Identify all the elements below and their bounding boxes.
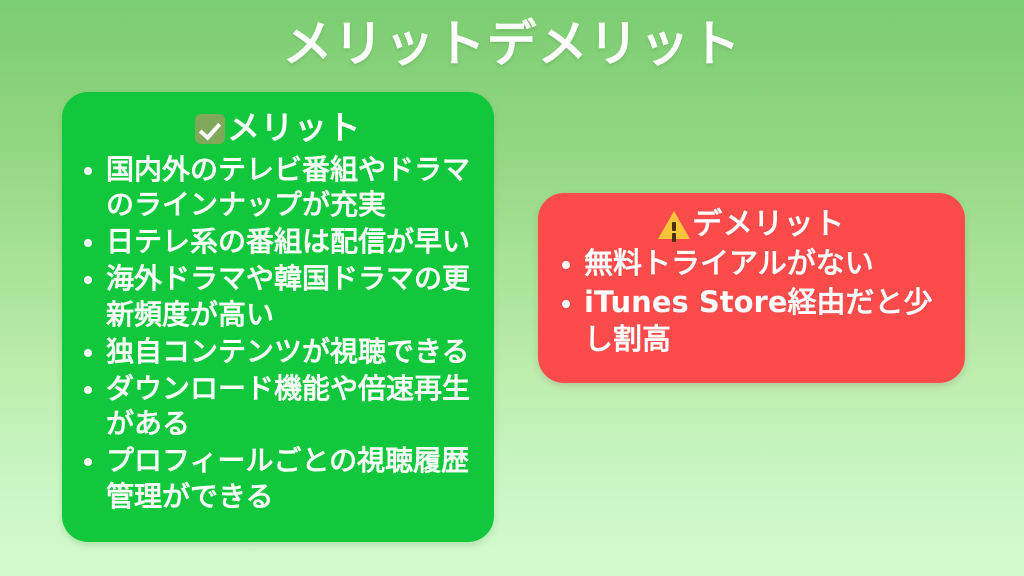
- merit-bullet-list: 国内外のテレビ番組やドラマのラインナップが充実 日テレ系の番組は配信が早い 海外…: [78, 152, 478, 515]
- check-mark-button-icon: [195, 114, 225, 144]
- list-item: 海外ドラマや韓国ドラマの更新頻度が高い: [78, 261, 478, 333]
- bullet-dot-icon: [84, 458, 92, 466]
- merit-card: メリット 国内外のテレビ番組やドラマのラインナップが充実 日テレ系の番組は配信が…: [62, 92, 494, 542]
- list-item: 無料トライアルがない: [554, 245, 949, 283]
- demerit-card: デメリット 無料トライアルがない iTunes Store経由だと少し割高: [538, 193, 965, 383]
- list-item-text: ダウンロード機能や倍速再生がある: [106, 372, 470, 441]
- bullet-dot-icon: [84, 276, 92, 284]
- list-item-text: iTunes Store経由だと少し割高: [584, 285, 933, 357]
- bullet-dot-icon: [84, 167, 92, 175]
- bullet-dot-icon: [84, 239, 92, 247]
- list-item-text: 無料トライアルがない: [584, 246, 874, 280]
- demerit-heading-label: デメリット: [692, 207, 845, 242]
- bullet-dot-icon: [562, 300, 570, 308]
- list-item-text: 海外ドラマや韓国ドラマの更新頻度が高い: [106, 262, 470, 331]
- bullet-dot-icon: [84, 349, 92, 357]
- list-item-text: 日テレ系の番組は配信が早い: [106, 225, 470, 258]
- bullet-dot-icon: [84, 386, 92, 394]
- warning-triangle-icon: [658, 210, 690, 239]
- page-title: メリットデメリット: [0, 16, 1024, 74]
- list-item: 日テレ系の番組は配信が早い: [78, 224, 478, 260]
- list-item: 独自コンテンツが視聴できる: [78, 334, 478, 370]
- merit-heading-label: メリット: [227, 108, 361, 147]
- list-item: プロフィールごとの視聴履歴管理ができる: [78, 443, 478, 515]
- list-item: iTunes Store経由だと少し割高: [554, 284, 949, 359]
- demerit-bullet-list: 無料トライアルがない iTunes Store経由だと少し割高: [554, 245, 949, 359]
- list-item: ダウンロード機能や倍速再生がある: [78, 371, 478, 443]
- slide-canvas: メリットデメリット メリット 国内外のテレビ番組やドラマのラインナップが充実 日…: [0, 0, 1024, 576]
- list-item-text: 国内外のテレビ番組やドラマのラインナップが充実: [106, 153, 470, 222]
- list-item-text: プロフィールごとの視聴履歴管理ができる: [106, 444, 469, 513]
- list-item: 国内外のテレビ番組やドラマのラインナップが充実: [78, 152, 478, 224]
- merit-card-heading: メリット: [78, 108, 478, 148]
- demerit-card-heading: デメリット: [554, 207, 949, 243]
- list-item-text: 独自コンテンツが視聴できる: [106, 335, 469, 368]
- bullet-dot-icon: [562, 261, 570, 269]
